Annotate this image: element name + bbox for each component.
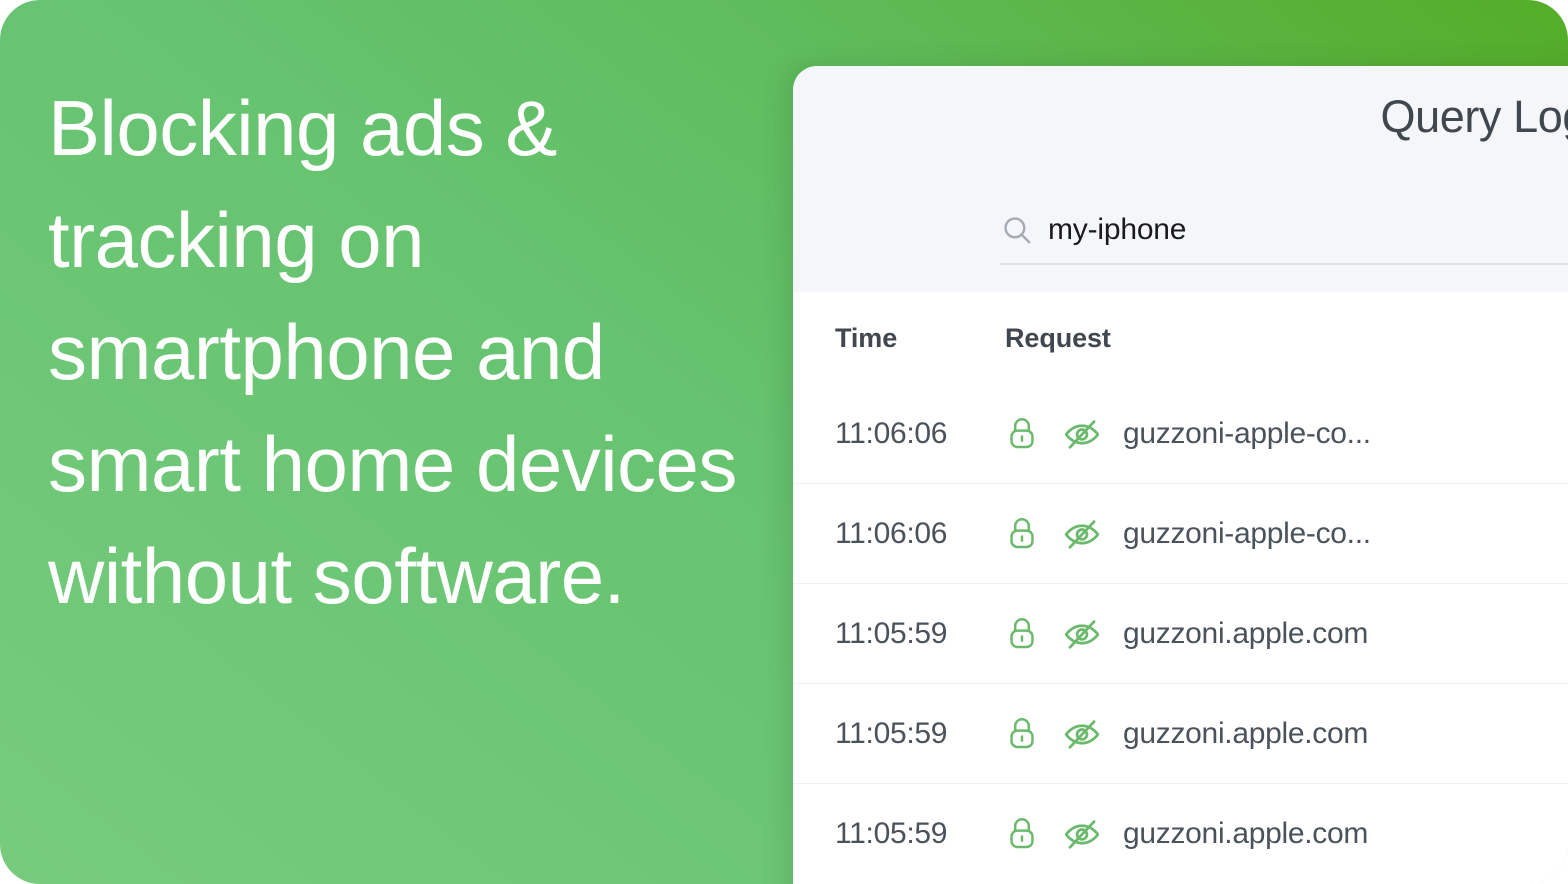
table-row[interactable]: 11:05:59: [793, 584, 1568, 684]
eye-off-icon: [1061, 415, 1103, 453]
eye-off-icon: [1061, 615, 1103, 653]
promo-banner: Blocking ads & tracking on smartphone an…: [0, 0, 1568, 884]
cell-time: 11:05:59: [835, 717, 947, 750]
cell-domain: guzzoni.apple.com: [1123, 617, 1368, 651]
page-title: Query Log: [1380, 91, 1568, 143]
card-header: Query Log: [793, 66, 1568, 292]
cell-time: 11:05:59: [835, 617, 947, 650]
cell-domain: guzzoni.apple.com: [1123, 717, 1368, 751]
cell-domain: guzzoni.apple.com: [1123, 817, 1368, 851]
cell-domain: guzzoni-apple-co...: [1123, 517, 1371, 551]
cell-time: 11:06:06: [835, 417, 947, 450]
cell-time: 11:05:59: [835, 817, 947, 850]
cell-time: 11:06:06: [835, 517, 947, 550]
promo-text-block: Blocking ads & tracking on smartphone an…: [48, 72, 748, 632]
lock-icon: [1005, 715, 1039, 753]
search-icon: [1000, 213, 1034, 247]
column-header-request: Request: [1005, 323, 1111, 354]
column-header-time: Time: [835, 323, 897, 353]
query-log-table: Time Request Response 11:06:06: [793, 292, 1568, 884]
table-header-row: Time Request Response: [793, 292, 1568, 384]
lock-icon: [1005, 515, 1039, 553]
lock-icon: [1005, 615, 1039, 653]
lock-icon: [1005, 815, 1039, 853]
cell-domain: guzzoni-apple-co...: [1123, 417, 1371, 451]
search-bar[interactable]: [1000, 197, 1568, 265]
eye-off-icon: [1061, 515, 1103, 553]
eye-off-icon: [1061, 815, 1103, 853]
lock-icon: [1005, 415, 1039, 453]
table-row[interactable]: 11:05:59: [793, 684, 1568, 784]
promo-headline: Blocking ads & tracking on smartphone an…: [48, 72, 748, 632]
table-row[interactable]: 11:06:06: [793, 384, 1568, 484]
table-row[interactable]: 11:05:59: [793, 784, 1568, 884]
eye-off-icon: [1061, 715, 1103, 753]
table-row[interactable]: 11:06:06: [793, 484, 1568, 584]
search-input[interactable]: [1048, 212, 1568, 248]
query-log-card: Query Log: [793, 66, 1568, 884]
